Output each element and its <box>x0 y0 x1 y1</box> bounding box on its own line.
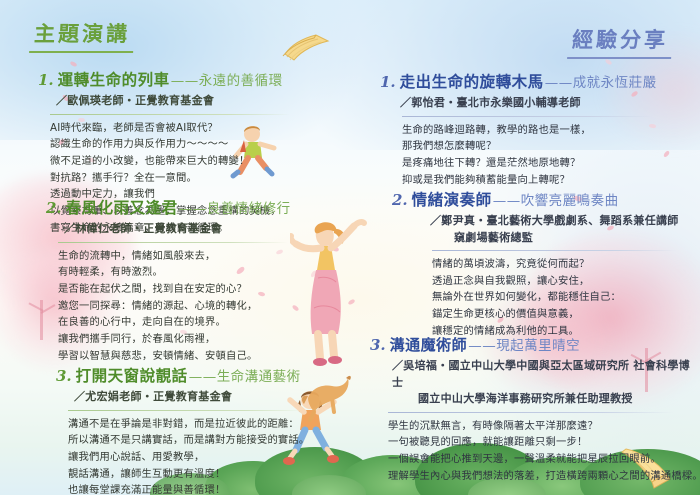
right-item-3-speaker: ／吳培福・國立中山大學中國與亞太區域研究所 社會科學博士 國立中山大學海洋事務研… <box>370 358 700 408</box>
right-item-1-divider <box>402 116 652 117</box>
body-line: 認識生命的作用力與反作用力～～～～ <box>50 136 338 153</box>
body-line: 錨定生命更核心的價值與意義， <box>432 306 697 323</box>
left-section-title: 主題演講 <box>29 18 135 53</box>
body-line: 靚話溝通，讓師生互動更有溫度！ <box>68 466 356 483</box>
left-item-2-head: 2. 春風化雨又逢君 ——良善情緒修行 <box>46 196 346 218</box>
right-section-title-wrap: 經驗分享 <box>568 24 672 59</box>
left-item-3-body: 溝通不是在爭論是非對錯，而是拉近彼此的距離： 所以溝通不是只講實話，而是講對方能… <box>56 416 356 495</box>
right-item-2-speaker: ／鄭尹真・臺北藝術大學戲劇系、舞蹈系兼任講師 窺劇場藝術總監 <box>392 213 697 246</box>
body-line: 一句被聽見的回應，就能讓距離只剩一步！ <box>388 434 700 451</box>
right-item-3-speaker-sub: 國立中山大學海洋事務研究所兼任助理教授 <box>392 391 700 408</box>
body-line: 無論外在世界如何變化，都能穩住自己： <box>432 289 697 306</box>
body-line: 也讓每堂課充滿正能量與善循環！ <box>68 482 356 495</box>
right-item-1-number: 1. <box>380 73 396 91</box>
right-item-2: 2. 情緒演奏師 ——吹響亮麗鳴奏曲 ／鄭尹真・臺北藝術大學戲劇系、舞蹈系兼任講… <box>392 188 697 339</box>
right-item-1-head: 1. 走出生命的旋轉木馬 ——成就永恆莊嚴 <box>380 70 690 92</box>
left-item-2-number: 2. <box>46 199 62 217</box>
body-line: 情緒的萬頃波濤，究竟從何而起？ <box>432 256 697 273</box>
left-item-2-body: 生命的流轉中，情緒如風般來去， 有時輕柔，有時激烈。 是否能在起伏之間，找到自在… <box>46 248 346 365</box>
body-line: 透過正念與自我觀照，讓心安住， <box>432 273 697 290</box>
left-item-2: 2. 春風化雨又逢君 ——良善情緒修行 ／林偉仁老師・正覺教育基金會 生命的流轉… <box>46 196 346 364</box>
right-item-1: 1. 走出生命的旋轉木馬 ——成就永恆莊嚴 ／郭怡君・臺北市永樂國小輔導老師 生… <box>380 70 690 188</box>
left-item-3-number: 3. <box>56 367 72 385</box>
right-item-3-divider <box>388 412 673 413</box>
right-section-title: 經驗分享 <box>567 24 673 59</box>
right-item-3-speaker-main: ／吳培福・國立中山大學中國與亞太區域研究所 社會科學博士 <box>392 359 690 389</box>
left-item-3-speaker: ／尤宏娟老師・正覺教育基金會 <box>56 389 356 406</box>
right-item-2-number: 2. <box>392 191 408 209</box>
body-line: 有時輕柔，有時激烈。 <box>58 264 346 281</box>
body-line: 生命的流轉中，情緒如風般來去， <box>58 248 346 265</box>
right-item-1-headline: 走出生命的旋轉木馬 <box>400 70 544 92</box>
right-item-2-head: 2. 情緒演奏師 ——吹響亮麗鳴奏曲 <box>392 188 697 210</box>
left-item-3-head: 3. 打開天窗說靚話 ——生命溝通藝術 <box>56 364 356 386</box>
body-line: 對抗路？攜手行？全在一意間。 <box>50 170 338 187</box>
left-item-1-divider <box>50 114 290 115</box>
body-line: 溝通不是在爭論是非對錯，而是拉近彼此的距離： <box>68 416 356 433</box>
right-item-2-speaker-main: ／鄭尹真・臺北藝術大學戲劇系、舞蹈系兼任講師 <box>430 214 679 227</box>
right-item-3-body: 學生的沉默無言，有時像隔著太平洋那麼遠？ 一句被聽見的回應，就能讓距離只剩一步！… <box>370 418 700 485</box>
left-item-1-head: 1. 運轉生命的列車 ——永遠的善循環 <box>38 68 338 90</box>
body-line: 一個誤會能把心推到天邊，一聲溫柔就能把星辰拉回眼前。 <box>388 451 700 468</box>
right-item-2-subtitle: ——吹響亮麗鳴奏曲 <box>493 189 619 209</box>
left-item-3-subtitle: ——生命溝通藝術 <box>189 365 301 385</box>
left-item-3: 3. 打開天窗說靚話 ——生命溝通藝術 ／尤宏娟老師・正覺教育基金會 溝通不是在… <box>56 364 356 495</box>
right-item-1-speaker: ／郭怡君・臺北市永樂國小輔導老師 <box>380 95 690 112</box>
left-item-2-subtitle: ——良善情緒修行 <box>179 197 291 217</box>
right-item-1-subtitle: ——成就永恆莊嚴 <box>545 71 657 91</box>
right-item-2-headline: 情緒演奏師 <box>412 188 492 210</box>
right-item-3-subtitle: ——現起萬里晴空 <box>468 334 580 354</box>
body-line: 生命的路峰迴路轉，教學的路也是一樣， <box>402 122 690 139</box>
body-line: 是疼痛地往下轉？還是茫然地原地轉？ <box>402 155 690 172</box>
left-item-1-headline: 運轉生命的列車 <box>58 68 170 90</box>
body-line: 是否能在起伏之間，找到自在安定的心？ <box>58 281 346 298</box>
body-line: 理解學生內心與我們想法的落差，打造橫跨兩顆心之間的溝通橋樑。 <box>388 468 700 485</box>
body-line: 學習以智慧與慈悲，安頓情緒、安頓自己。 <box>58 348 346 365</box>
right-item-1-speaker-main: ／郭怡君・臺北市永樂國小輔導老師 <box>400 96 581 109</box>
body-line: 微不足道的小改變，也能帶來巨大的轉變！ <box>50 153 338 170</box>
body-line: 那我們想怎麼轉呢？ <box>402 138 690 155</box>
body-line: 邀您一同探尋：情緒的源起、心境的轉化， <box>58 298 346 315</box>
left-item-2-speaker: ／林偉仁老師・正覺教育基金會 <box>46 221 346 238</box>
poster-content: 主題演講 1. 運轉生命的列車 ——永遠的善循環 ／歐佩瑛老師・正覺教育基金會 … <box>0 0 700 495</box>
left-section-title-wrap: 主題演講 <box>30 18 134 53</box>
right-item-3: 3. 溝通魔術師 ——現起萬里晴空 ／吳培福・國立中山大學中國與亞太區域研究所 … <box>370 334 700 484</box>
left-item-1-speaker: ／歐佩瑛老師・正覺教育基金會 <box>38 93 338 110</box>
body-line: 讓我們攜手同行，於春風化雨裡， <box>58 331 346 348</box>
right-item-2-divider <box>432 250 677 251</box>
left-item-2-headline: 春風化雨又逢君 <box>66 196 178 218</box>
left-item-1-number: 1. <box>38 71 54 89</box>
body-line: AI時代來臨，老師是否會被AI取代？ <box>50 120 338 137</box>
left-item-3-divider <box>68 410 303 411</box>
right-item-3-head: 3. 溝通魔術師 ——現起萬里晴空 <box>370 334 700 355</box>
body-line: 在良善的心行中，走向自在的境界。 <box>58 314 346 331</box>
right-item-2-body: 情緒的萬頃波濤，究竟從何而起？ 透過正念與自我觀照，讓心安住， 無論外在世界如何… <box>392 256 697 339</box>
right-item-3-number: 3. <box>370 336 386 354</box>
body-line: 讓我們用心說話、用愛教學， <box>68 449 356 466</box>
right-item-3-headline: 溝通魔術師 <box>390 334 468 355</box>
left-item-2-divider <box>58 242 288 243</box>
right-item-1-body: 生命的路峰迴路轉，教學的路也是一樣， 那我們想怎麼轉呢？ 是疼痛地往下轉？還是茫… <box>380 122 690 189</box>
left-item-3-headline: 打開天窗說靚話 <box>76 364 188 386</box>
body-line: 學生的沉默無言，有時像隔著太平洋那麼遠？ <box>388 418 700 435</box>
body-line: 所以溝通不是只講實話，而是講對方能接受的實話。 <box>68 432 356 449</box>
right-item-2-speaker-sub: 窺劇場藝術總監 <box>430 230 697 247</box>
left-item-1-subtitle: ——永遠的善循環 <box>171 69 283 89</box>
body-line: 抑或是我們能夠積蓄能量向上轉呢？ <box>402 172 690 189</box>
